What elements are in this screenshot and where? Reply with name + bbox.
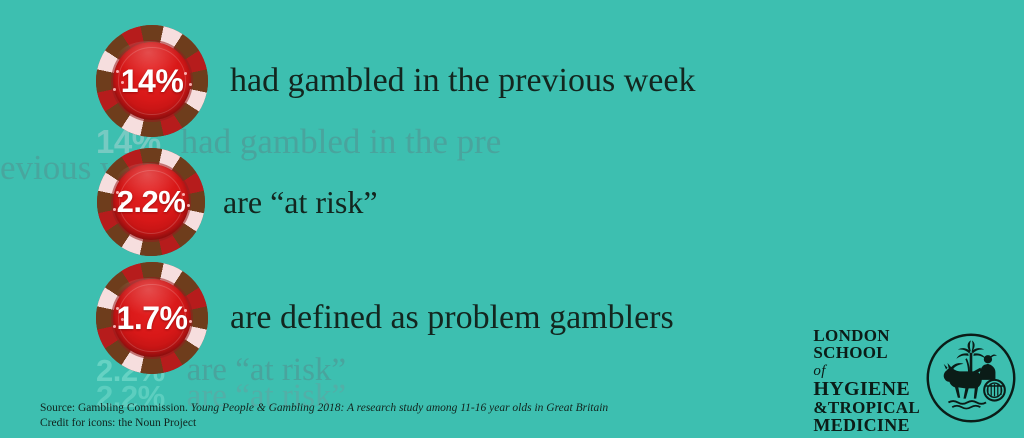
stat-label-text: are defined as problem gamblers [230, 299, 674, 337]
poker-chip-1-7-percent: 1.7% [96, 262, 208, 374]
chip-value-label: 14% [96, 25, 208, 137]
footer-credits: Source: Gambling Commission. Young Peopl… [40, 401, 608, 430]
logo-line-hygiene: HYGIENE [813, 379, 910, 399]
poker-chip-2-2-percent: 2.2% [97, 148, 205, 256]
logo-line-school-of: SCHOOLof [813, 344, 888, 379]
logo-line-tropical: &TROPICAL [813, 399, 920, 416]
lshtm-crest-emblem [924, 331, 1018, 430]
source-title: Young People & Gambling 2018: A research… [191, 402, 608, 414]
stat-row-gambled-previous-week: 14% had gambled in the previous week [96, 25, 695, 137]
stat-row-problem-gamblers: 1.7% are defined as problem gamblers [96, 262, 674, 374]
stat-label-text: are “at risk” [223, 184, 378, 221]
stat-row-at-risk: 2.2% are “at risk” [97, 148, 378, 256]
gambling-statistics-infographic: 14% had gambled in the pre evious week 2… [0, 0, 1024, 438]
credit-line: Credit for icons: the Noun Project [40, 416, 608, 431]
chip-value-label: 2.2% [97, 148, 205, 256]
logo-school-text: SCHOOL [813, 344, 888, 361]
source-line: Source: Gambling Commission. Young Peopl… [40, 401, 608, 416]
logo-of-text: of [813, 363, 825, 379]
chip-value-label: 1.7% [96, 262, 208, 374]
lshtm-logo: LONDON SCHOOLof HYGIENE &TROPICAL MEDICI… [813, 327, 1018, 434]
source-prefix: Source: Gambling Commission. [40, 402, 191, 414]
lshtm-wordmark: LONDON SCHOOLof HYGIENE &TROPICAL MEDICI… [813, 327, 920, 434]
logo-line-medicine: MEDICINE [813, 416, 909, 434]
logo-line-london: LONDON [813, 327, 889, 344]
stat-label-text: had gambled in the previous week [230, 62, 695, 100]
poker-chip-14-percent: 14% [96, 25, 208, 137]
